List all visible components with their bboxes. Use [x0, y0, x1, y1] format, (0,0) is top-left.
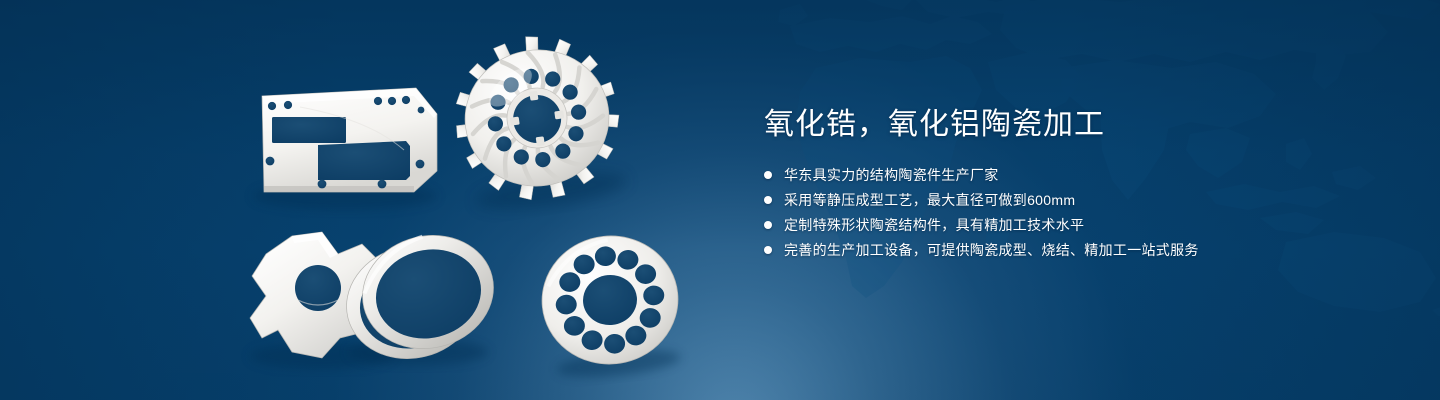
- list-item: 完善的生产加工设备，可提供陶瓷成型、烧结、精加工一站式服务: [764, 241, 1384, 259]
- list-item-label: 完善的生产加工设备，可提供陶瓷成型、烧结、精加工一站式服务: [784, 241, 1199, 259]
- feature-list: 华东具实力的结构陶瓷件生产厂家 采用等静压成型工艺，最大直径可做到600mm 定…: [764, 166, 1384, 259]
- bullet-dot-icon: [764, 171, 772, 179]
- bullet-dot-icon: [764, 196, 772, 204]
- ceramic-impeller-disc: [444, 25, 631, 217]
- ceramic-ring-pair: [334, 222, 505, 373]
- ceramic-perforated-disc: [536, 229, 686, 382]
- bullet-dot-icon: [764, 246, 772, 254]
- ceramic-products-image: [0, 0, 740, 400]
- ceramic-mounting-plate: [253, 88, 437, 210]
- list-item: 采用等静压成型工艺，最大直径可做到600mm: [764, 191, 1384, 209]
- list-item: 定制特殊形状陶瓷结构件，具有精加工技术水平: [764, 216, 1384, 234]
- banner-copy: 氧化锆，氧化铝陶瓷加工 华东具实力的结构陶瓷件生产厂家 采用等静压成型工艺，最大…: [764, 104, 1384, 259]
- list-item-label: 采用等静压成型工艺，最大直径可做到600mm: [784, 191, 1075, 209]
- list-item: 华东具实力的结构陶瓷件生产厂家: [764, 166, 1384, 184]
- bullet-dot-icon: [764, 221, 772, 229]
- ceramic-products-hero-banner: 氧化锆，氧化铝陶瓷加工 华东具实力的结构陶瓷件生产厂家 采用等静压成型工艺，最大…: [0, 0, 1440, 400]
- page-title: 氧化锆，氧化铝陶瓷加工: [764, 104, 1384, 146]
- list-item-label: 华东具实力的结构陶瓷件生产厂家: [784, 166, 999, 184]
- list-item-label: 定制特殊形状陶瓷结构件，具有精加工技术水平: [784, 216, 1084, 234]
